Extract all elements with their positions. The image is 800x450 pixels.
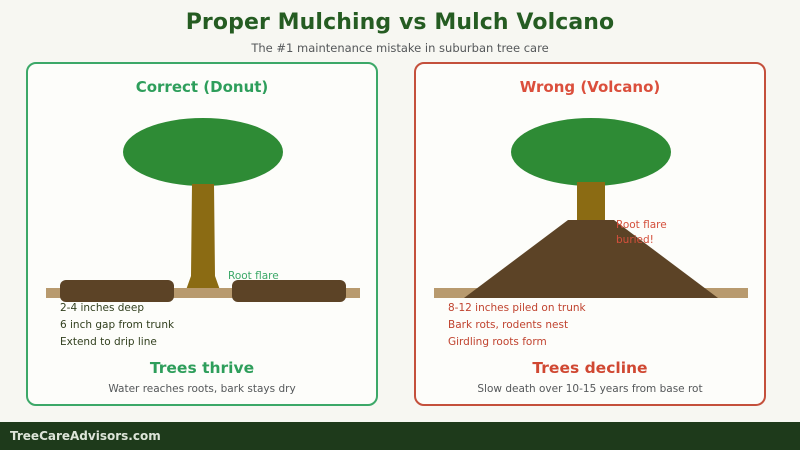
mulch-ring-right-segment — [232, 280, 346, 302]
diagram-correct-mulching: Root flare — [28, 90, 380, 330]
root-flare-buried-label-line2: buried! — [616, 234, 654, 246]
panel-left-bullets: 2-4 inches deep 6 inch gap from trunk Ex… — [60, 300, 174, 351]
tree-trunk-icon — [577, 182, 605, 224]
panel-right-verdict: Trees decline — [416, 359, 764, 377]
bullet-item: 6 inch gap from trunk — [60, 317, 174, 334]
panel-right-bullets: 8-12 inches piled on trunk Bark rots, ro… — [448, 300, 586, 351]
bullet-item: Extend to drip line — [60, 334, 174, 351]
panel-right-verdict-sub: Slow death over 10-15 years from base ro… — [416, 383, 764, 395]
tree-trunk-icon — [185, 184, 221, 296]
panel-left-verdict: Trees thrive — [28, 359, 376, 377]
root-flare-label: Root flare — [228, 270, 279, 282]
mulch-ring-left-segment — [60, 280, 174, 302]
bullet-item: Girdling roots form — [448, 334, 586, 351]
infographic-canvas: Proper Mulching vs Mulch Volcano The #1 … — [0, 0, 800, 450]
bullet-item: Bark rots, rodents nest — [448, 317, 586, 334]
panel-wrong-volcano: Wrong (Volcano) Root flare buried! 8-12 … — [414, 62, 766, 406]
mulch-volcano-mound — [464, 220, 718, 298]
tree-canopy-icon — [511, 118, 671, 186]
bullet-item: 8-12 inches piled on trunk — [448, 300, 586, 317]
footer-brand: TreeCareAdvisors.com — [10, 429, 161, 443]
diagram-mulch-volcano: Root flare buried! — [416, 90, 768, 330]
tree-canopy-icon — [123, 118, 283, 186]
panel-correct-donut: Correct (Donut) Root flare 2-4 inches de… — [26, 62, 378, 406]
panel-left-verdict-sub: Water reaches roots, bark stays dry — [28, 383, 376, 395]
page-title: Proper Mulching vs Mulch Volcano — [0, 10, 800, 35]
page-subtitle: The #1 maintenance mistake in suburban t… — [0, 41, 800, 55]
root-flare-buried-label-line1: Root flare — [616, 219, 667, 231]
bullet-item: 2-4 inches deep — [60, 300, 174, 317]
footer-bar: TreeCareAdvisors.com — [0, 422, 800, 450]
